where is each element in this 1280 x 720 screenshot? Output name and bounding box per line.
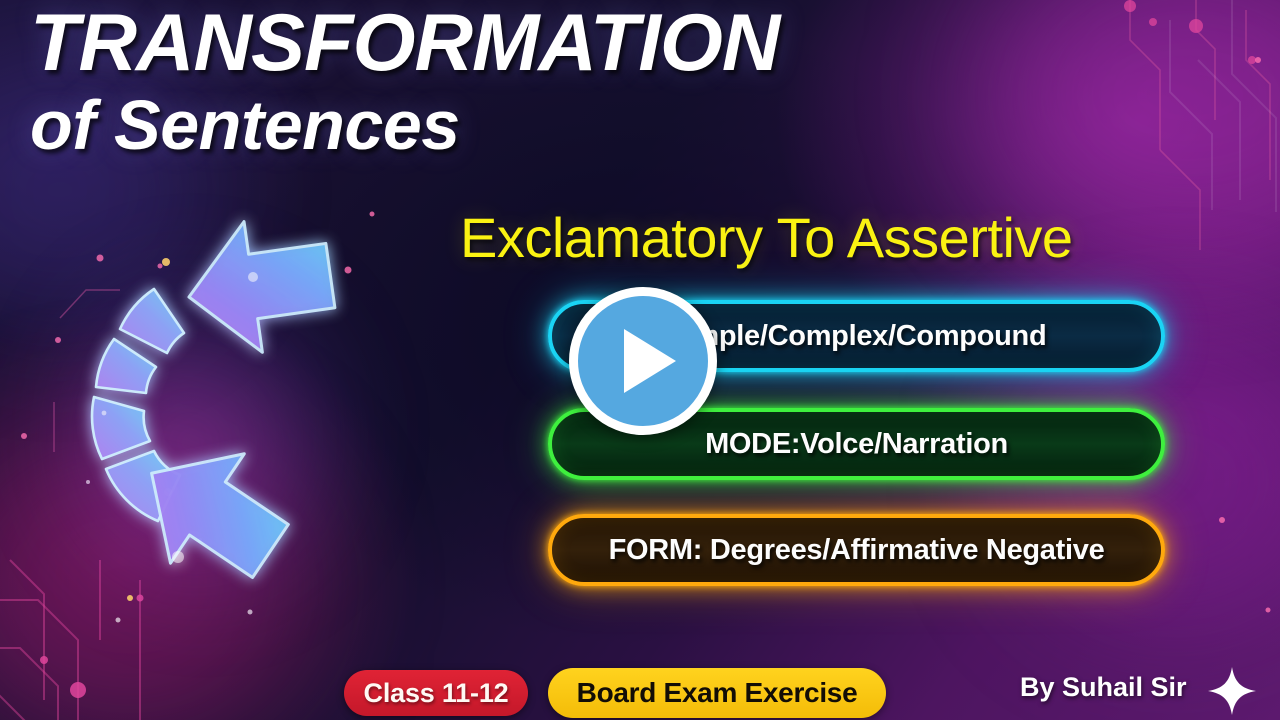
credit-text: By Suhail Sir xyxy=(1020,672,1187,703)
type-pill-label: Simple/Complex/Compound xyxy=(667,320,1047,353)
title-line-1: TRANSFORMATION xyxy=(30,2,779,85)
sparkle-icon xyxy=(1205,664,1259,718)
subtitle: Exclamatory To Assertive xyxy=(460,205,1073,270)
mode-pill-label: MODE:Volce/Narration xyxy=(705,428,1008,461)
title-block: TRANSFORMATION of Sentences xyxy=(30,2,779,163)
class-badge[interactable]: Class 11-12 xyxy=(344,670,528,716)
exam-badge-label: Board Exam Exercise xyxy=(577,677,858,709)
form-pill-label: FORM: Degrees/Affirmative Negative xyxy=(609,534,1105,567)
title-line-2: of Sentences xyxy=(30,89,779,163)
play-button[interactable] xyxy=(569,287,717,435)
class-badge-label: Class 11-12 xyxy=(364,678,509,709)
play-icon xyxy=(624,329,676,393)
circular-transform-arrow-icon xyxy=(40,205,370,635)
form-pill[interactable]: FORM: Degrees/Affirmative Negative xyxy=(548,514,1165,586)
video-thumbnail: TRANSFORMATION of Sentences Exclamatory … xyxy=(0,0,1280,720)
exam-badge[interactable]: Board Exam Exercise xyxy=(548,668,886,718)
